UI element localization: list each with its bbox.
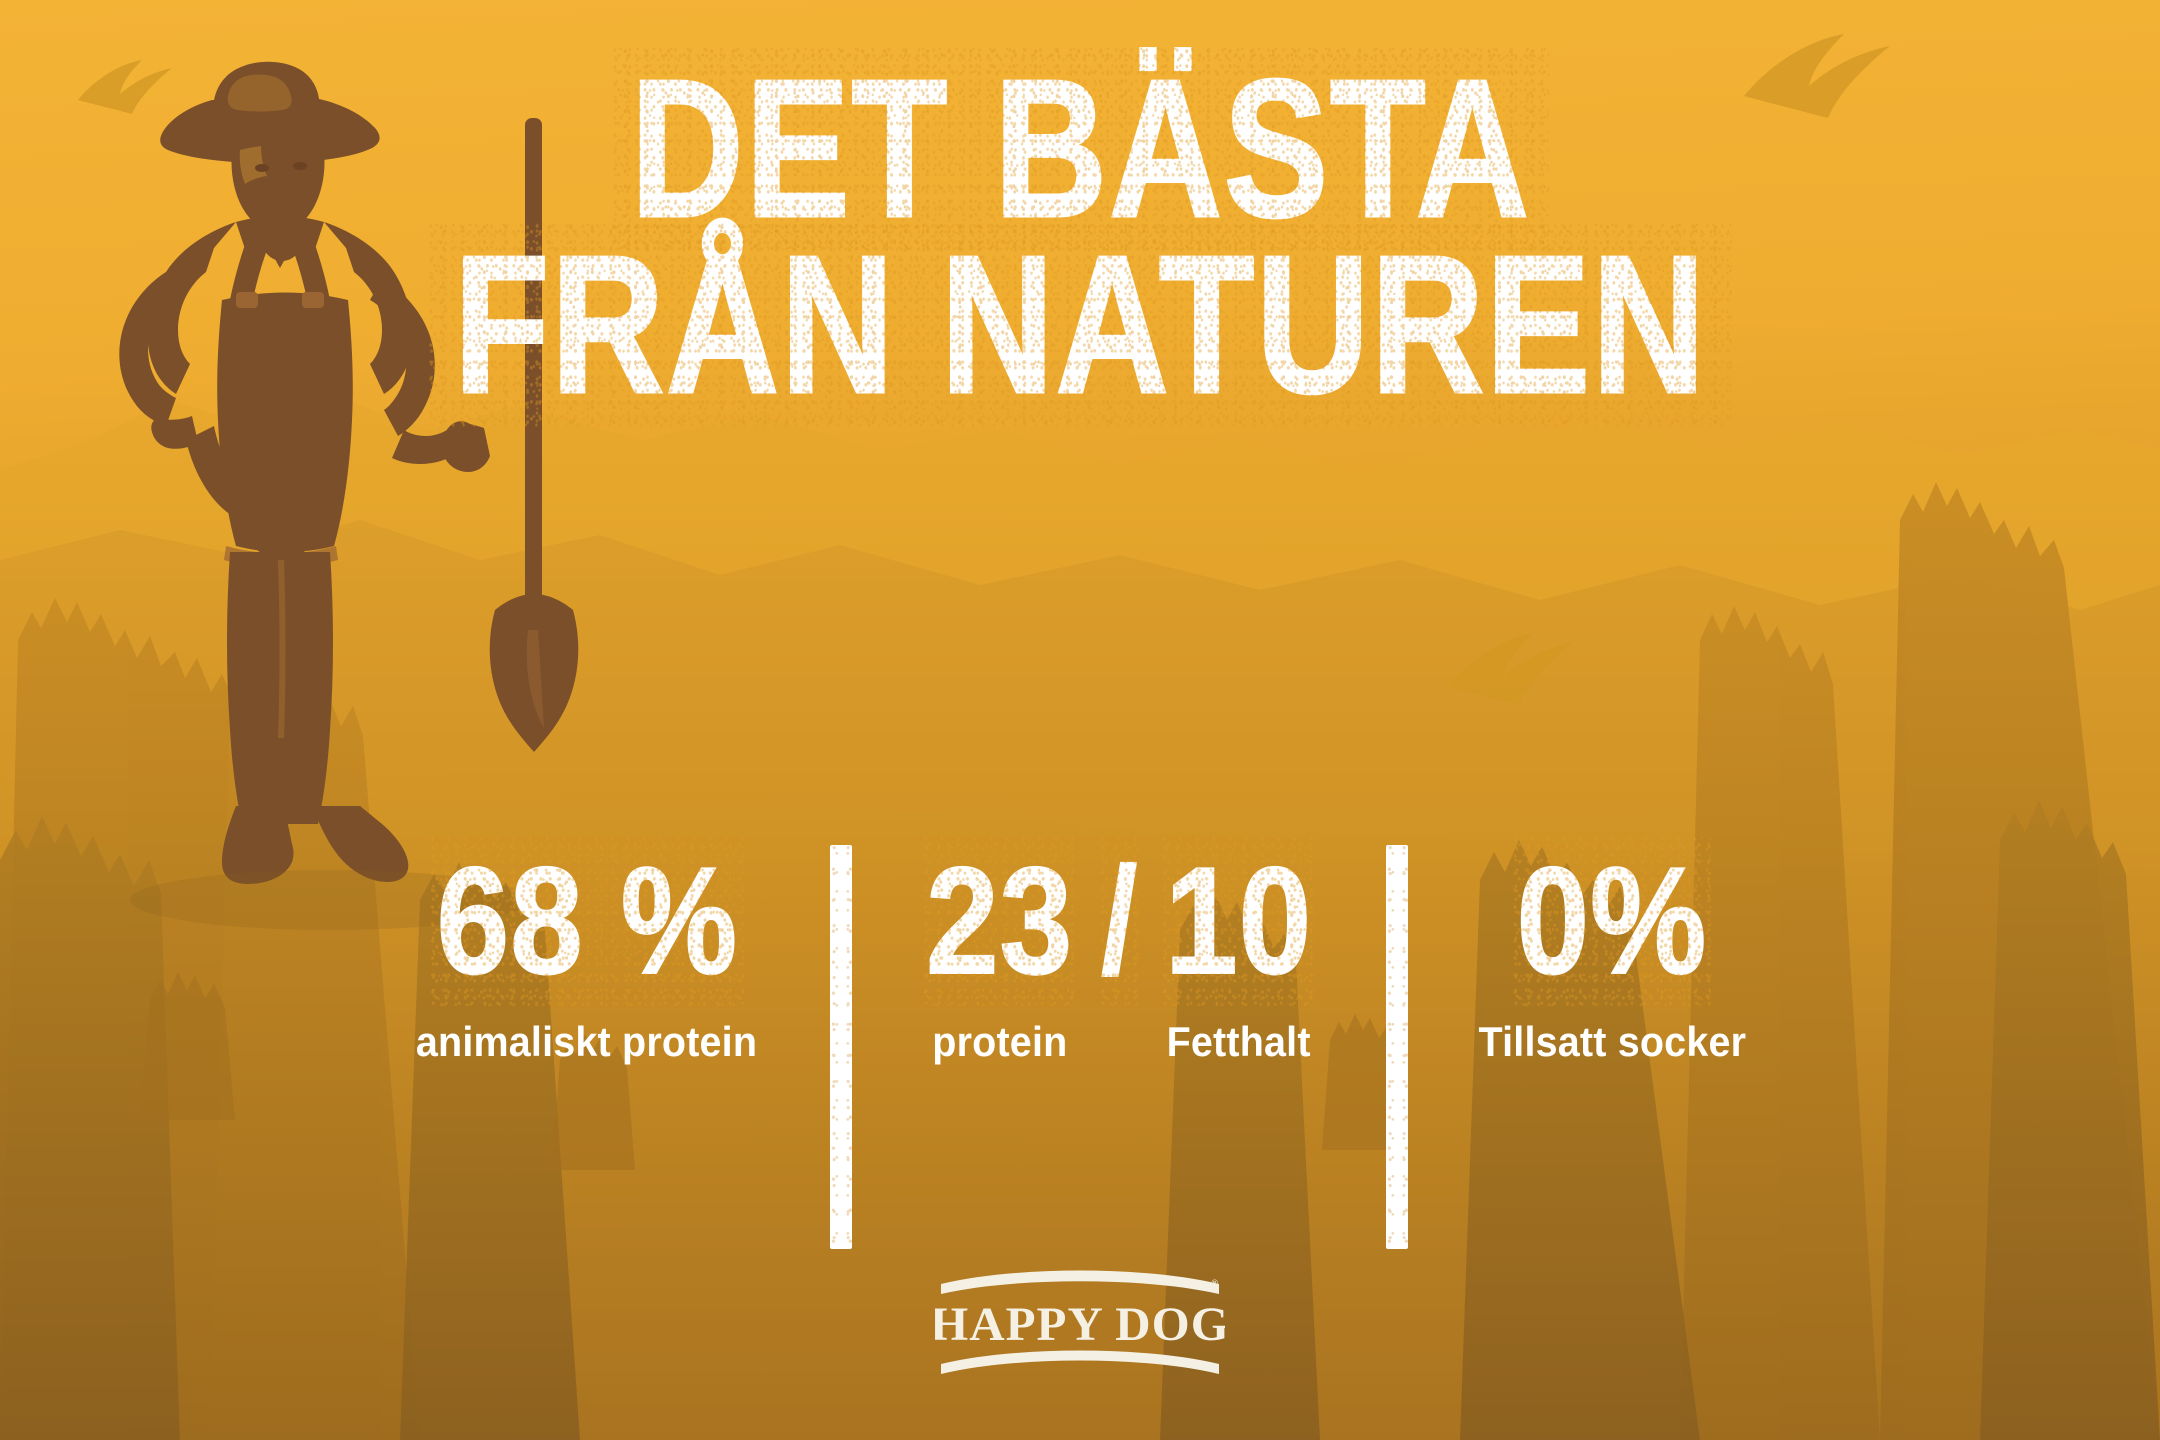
stat-value: 10 [1165, 845, 1312, 997]
farmer-overalls [217, 293, 353, 553]
gull-top-left-icon [78, 60, 172, 114]
logo-arc-bottom [941, 1351, 1219, 1375]
stat-label: Fetthalt [1166, 1021, 1310, 1063]
stat-ratio-separator: / [1092, 845, 1147, 997]
logo-arc-top [941, 1271, 1219, 1295]
ratio-slash: / [1101, 845, 1138, 997]
gull-top-right-icon [1744, 34, 1890, 118]
stat-divider-1 [830, 845, 852, 1249]
stat-divider-2 [1386, 845, 1408, 1249]
marketing-banner: DET BÄSTA FRÅN NATUREN 68 % animaliskt p… [0, 0, 2160, 1440]
stats-row: 68 % animaliskt protein 23 protein / 10 … [0, 845, 2160, 1175]
stat-value: 68 % [436, 845, 737, 997]
stat-value: 23 [926, 845, 1073, 997]
stat-added-sugar: 0% Tillsatt socker [1464, 845, 1761, 1063]
happy-dog-logo: HAPPY DOG ® [935, 1268, 1225, 1380]
stat-label: animaliskt protein [416, 1021, 757, 1063]
scenery-illustration [0, 0, 2160, 1440]
stat-animal-protein: 68 % animaliskt protein [399, 845, 774, 1063]
logo-wordmark: HAPPY DOG [935, 1298, 1225, 1350]
stat-label: Tillsatt socker [1478, 1021, 1746, 1063]
logo-trademark-icon: ® [1211, 1278, 1218, 1288]
stat-value: 0% [1517, 845, 1708, 997]
shovel-handle [525, 118, 542, 628]
stat-protein: 23 protein [908, 845, 1091, 1063]
stat-group-protein-fat: 23 protein / 10 Fetthalt [908, 845, 1329, 1063]
stat-label: protein [932, 1021, 1067, 1063]
stat-fat-content: 10 Fetthalt [1147, 845, 1330, 1063]
